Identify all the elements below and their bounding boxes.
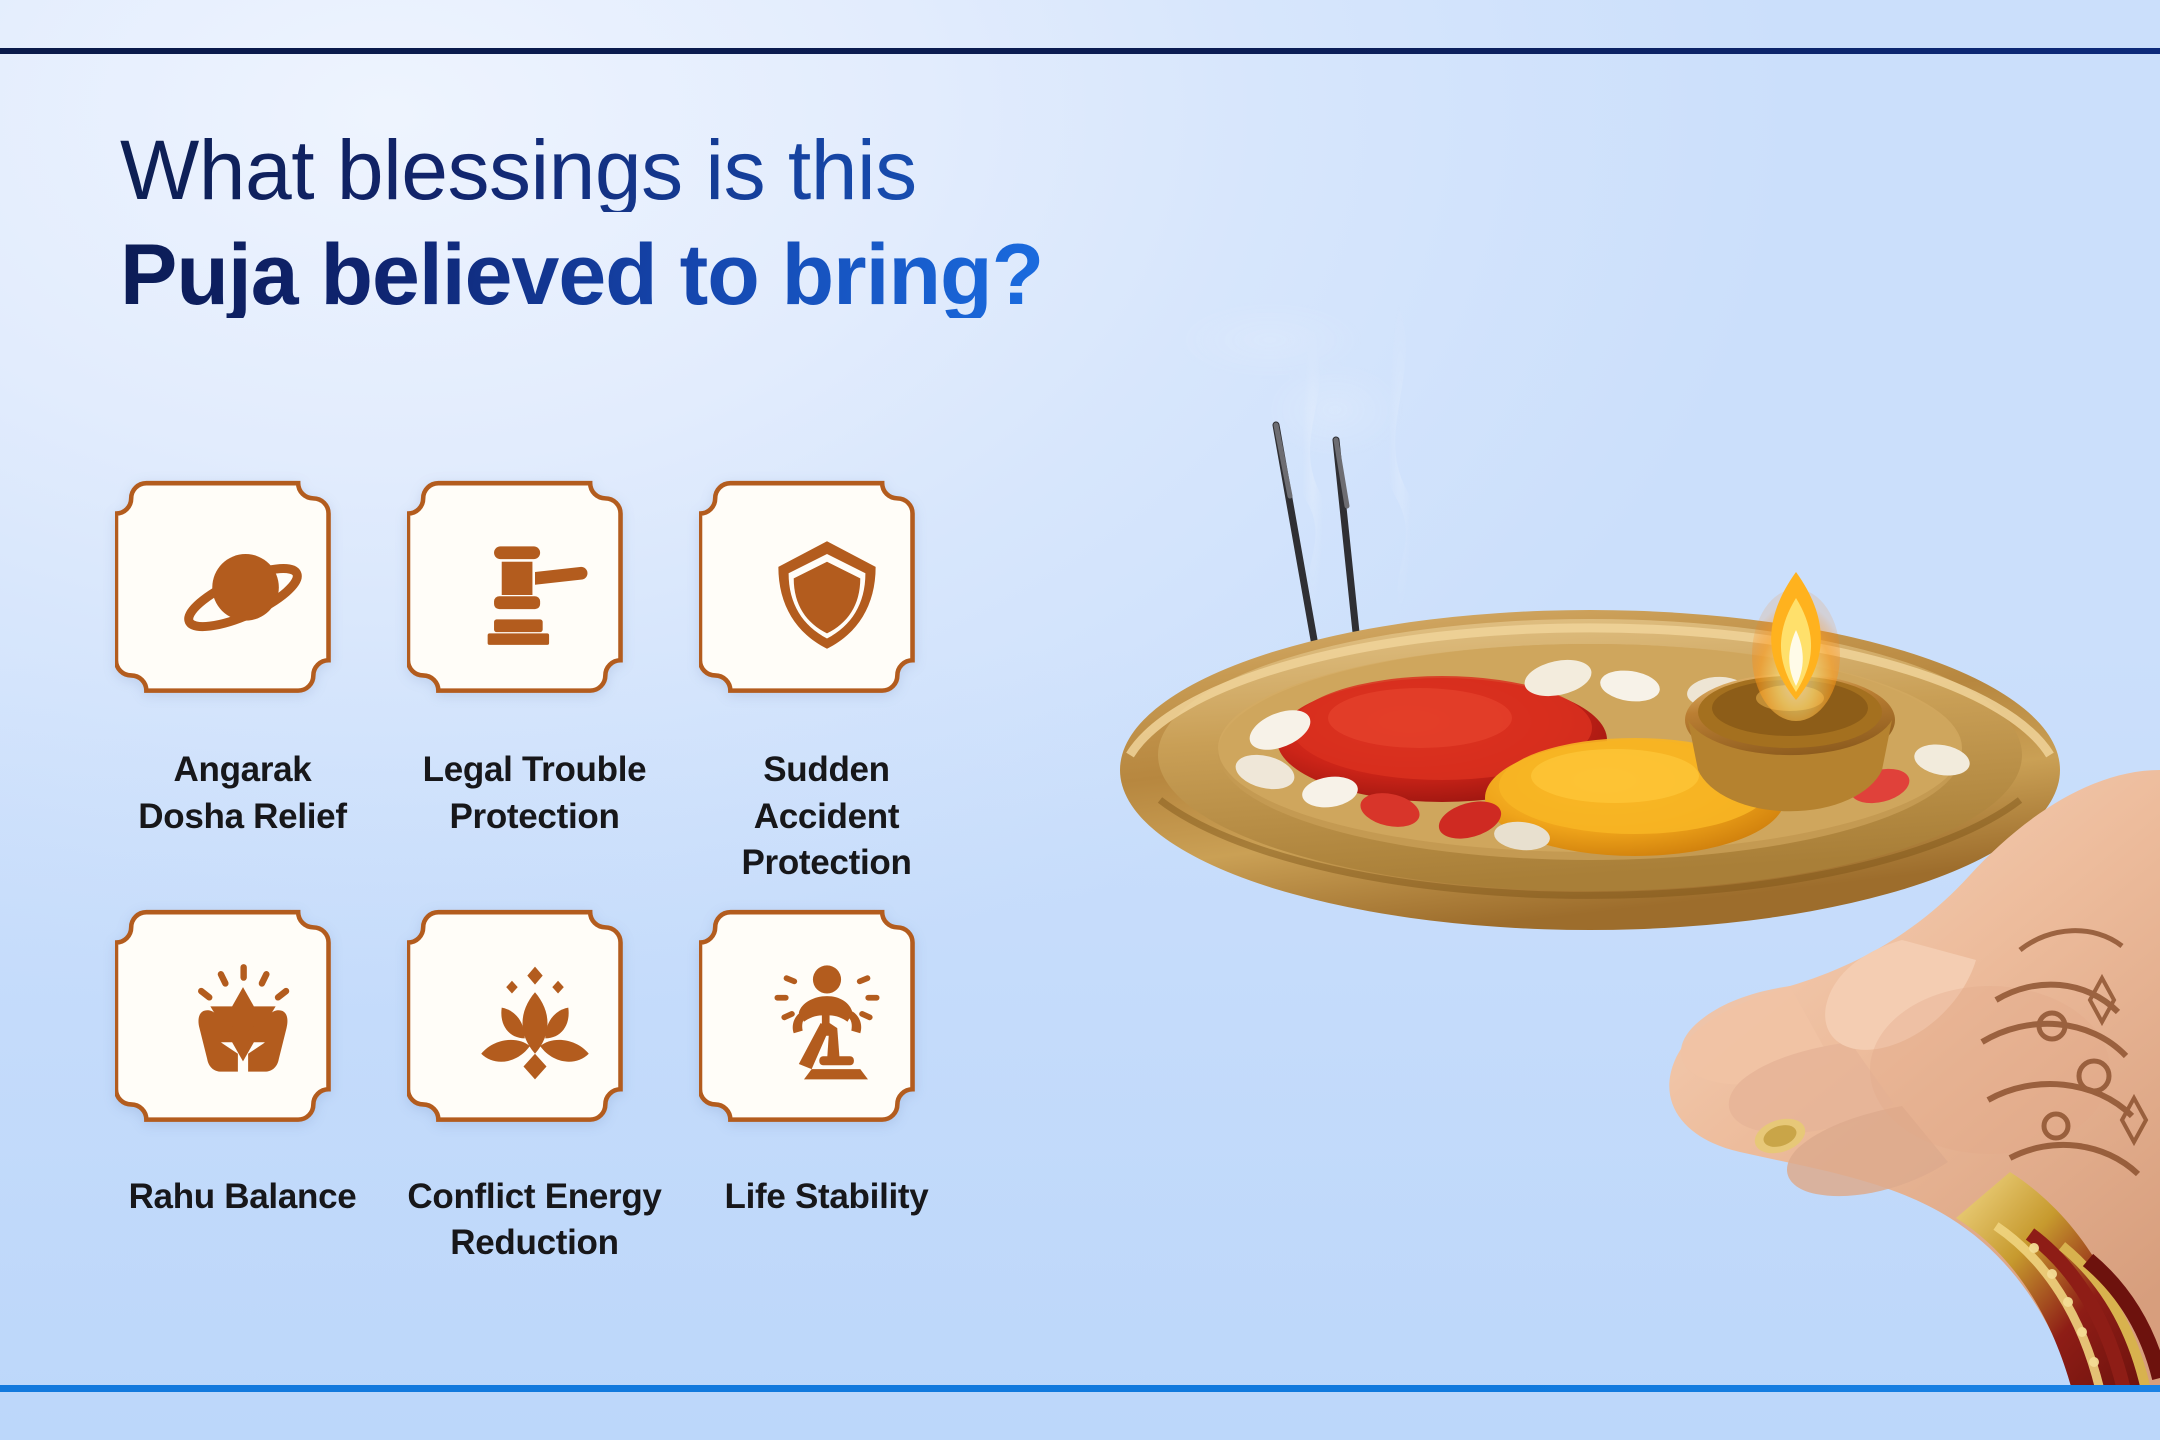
benefit-label-line-1: Life Stability	[725, 1177, 929, 1216]
benefit-icon-card	[699, 468, 954, 721]
benefit-item-legal-trouble-protection[interactable]: Legal Trouble Protection	[402, 468, 667, 887]
top-divider-rule	[0, 48, 2160, 54]
diya-lamp	[1685, 572, 1895, 811]
benefit-label: Life Stability	[725, 1174, 929, 1221]
benefit-item-sudden-accident-protection[interactable]: Sudden Accident Protection	[694, 468, 959, 887]
planet-saturn-icon	[115, 468, 370, 721]
headline-line-2: Puja believed to bring?	[120, 232, 1043, 318]
benefit-label-line-1: Angarak	[174, 750, 312, 789]
benefit-icon-card	[407, 468, 662, 721]
bottom-divider-rule	[0, 1385, 2160, 1392]
benefit-label-line-2: Protection	[741, 843, 911, 882]
benefit-label: Angarak Dosha Relief	[138, 747, 346, 840]
benefit-icon-card	[407, 897, 662, 1150]
poster-canvas: What blessings is this Puja believed to …	[0, 0, 2160, 1440]
standing-person-icon	[699, 897, 954, 1150]
benefit-label: Sudden Accident Protection	[694, 747, 959, 887]
headline-line-1: What blessings is this	[120, 128, 1043, 212]
hands-star-icon	[115, 897, 370, 1150]
benefit-label-line-2: Reduction	[450, 1223, 618, 1262]
headline-block: What blessings is this Puja believed to …	[120, 128, 1043, 318]
benefit-item-life-stability[interactable]: Life Stability	[694, 897, 959, 1267]
lotus-icon	[407, 897, 662, 1150]
benefit-icon-card	[699, 897, 954, 1150]
diya-flame	[1752, 572, 1840, 721]
benefit-label: Conflict Energy Reduction	[407, 1174, 661, 1267]
gavel-icon	[407, 468, 662, 721]
benefit-label-line-1: Legal Trouble	[423, 750, 647, 789]
benefit-label-line-1: Rahu Balance	[129, 1177, 357, 1216]
puja-thali-photo	[1090, 300, 2160, 1390]
benefit-label-line-1: Conflict Energy	[407, 1177, 661, 1216]
benefit-item-rahu-balance[interactable]: Rahu Balance	[110, 897, 375, 1267]
shield-icon	[699, 468, 954, 721]
benefit-label-line-2: Protection	[449, 797, 619, 836]
incense-smoke	[1175, 300, 1412, 620]
benefit-label-line-1: Sudden Accident	[754, 750, 899, 836]
benefits-grid: Angarak Dosha Relief	[110, 468, 959, 1267]
benefit-icon-card	[115, 897, 370, 1150]
benefit-label-line-2: Dosha Relief	[138, 797, 346, 836]
benefit-item-conflict-energy-reduction[interactable]: Conflict Energy Reduction	[402, 897, 667, 1267]
benefit-label: Rahu Balance	[129, 1174, 357, 1221]
benefit-icon-card	[115, 468, 370, 721]
benefit-item-angarak-dosha-relief[interactable]: Angarak Dosha Relief	[110, 468, 375, 887]
benefit-label: Legal Trouble Protection	[423, 747, 647, 840]
